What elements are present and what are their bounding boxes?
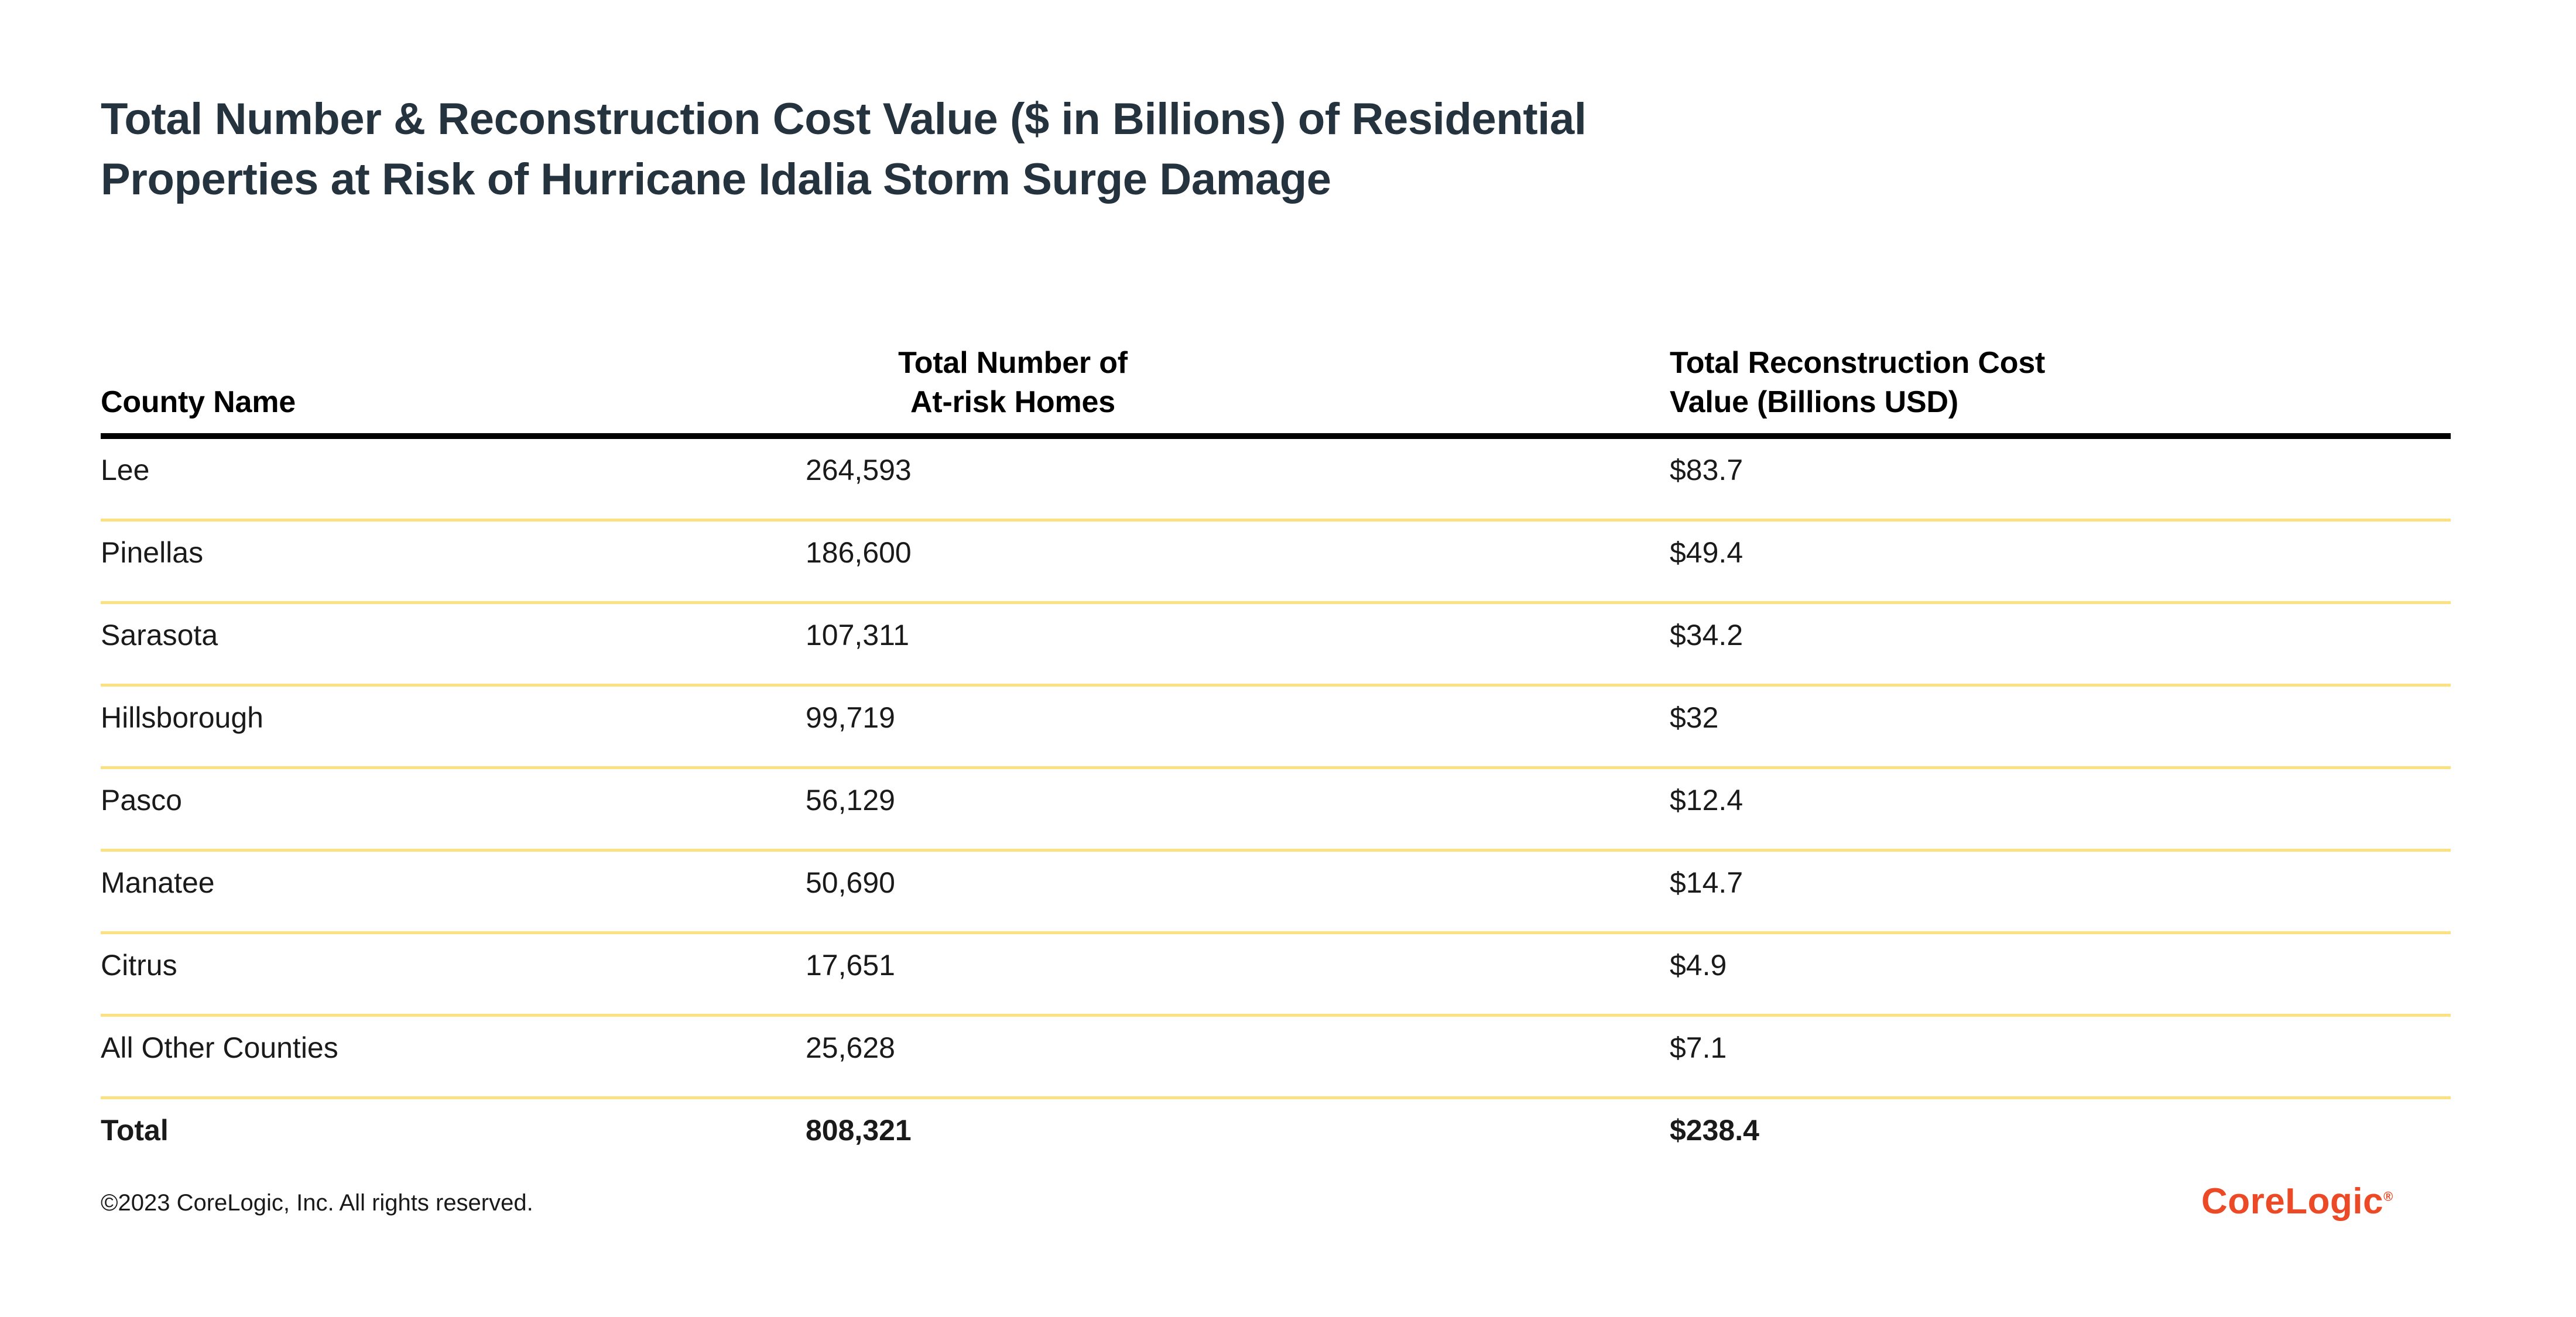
table-row: Manatee 50,690 $14.7 xyxy=(101,852,2451,934)
table-total-row: Total 808,321 $238.4 xyxy=(101,1099,2451,1179)
cell-county-name: All Other Counties xyxy=(101,1033,338,1062)
cell-at-risk-homes: 50,690 xyxy=(806,868,895,897)
cell-county-name: Hillsborough xyxy=(101,703,263,732)
cell-at-risk-homes: 17,651 xyxy=(806,951,895,980)
page-title-line-1: Total Number & Reconstruction Cost Value… xyxy=(101,89,2325,149)
table-header-rule xyxy=(101,433,2451,439)
cell-county-name: Pinellas xyxy=(101,538,203,567)
cell-reconstruction-cost: $14.7 xyxy=(1670,868,1743,897)
cell-county-name: Lee xyxy=(101,455,149,485)
cell-reconstruction-cost: $4.9 xyxy=(1670,951,1727,980)
cell-county-name: Citrus xyxy=(101,951,177,980)
cell-total-reconstruction-cost: $238.4 xyxy=(1670,1116,1759,1145)
cell-at-risk-homes: 25,628 xyxy=(806,1033,895,1062)
column-header-at-risk-homes-line-1: Total Number of xyxy=(808,344,1218,383)
column-header-reconstruction-cost-line-1: Total Reconstruction Cost xyxy=(1670,344,2045,383)
cell-reconstruction-cost: $12.4 xyxy=(1670,786,1743,815)
page-title: Total Number & Reconstruction Cost Value… xyxy=(101,89,2325,210)
cell-total-at-risk-homes: 808,321 xyxy=(806,1116,912,1145)
table-row: All Other Counties 25,628 $7.1 xyxy=(101,1017,2451,1099)
cell-total-label: Total xyxy=(101,1116,169,1145)
at-risk-properties-table: County Name Total Number of At-risk Home… xyxy=(101,293,2451,1179)
cell-at-risk-homes: 186,600 xyxy=(806,538,912,567)
cell-at-risk-homes: 264,593 xyxy=(806,455,912,485)
cell-reconstruction-cost: $32 xyxy=(1670,703,1718,732)
cell-reconstruction-cost: $83.7 xyxy=(1670,455,1743,485)
corelogic-logo-wordmark: CoreLogic xyxy=(2201,1181,2383,1222)
corelogic-logo: CoreLogic® xyxy=(2201,1184,2393,1220)
registered-trademark-icon: ® xyxy=(2383,1189,2393,1203)
cell-reconstruction-cost: $34.2 xyxy=(1670,620,1743,650)
page-title-line-2: Properties at Risk of Hurricane Idalia S… xyxy=(101,149,2325,210)
infographic-page: Total Number & Reconstruction Cost Value… xyxy=(0,0,2576,1317)
cell-county-name: Pasco xyxy=(101,786,182,815)
column-header-at-risk-homes: Total Number of At-risk Homes xyxy=(808,344,1218,423)
table-row: Lee 264,593 $83.7 xyxy=(101,439,2451,522)
cell-county-name: Sarasota xyxy=(101,620,218,650)
column-header-county-name: County Name xyxy=(101,383,296,423)
table-row: Citrus 17,651 $4.9 xyxy=(101,934,2451,1017)
table-row: Sarasota 107,311 $34.2 xyxy=(101,604,2451,687)
cell-reconstruction-cost: $7.1 xyxy=(1670,1033,1727,1062)
table-row: Pasco 56,129 $12.4 xyxy=(101,769,2451,852)
cell-at-risk-homes: 56,129 xyxy=(806,786,895,815)
cell-county-name: Manatee xyxy=(101,868,215,897)
cell-reconstruction-cost: $49.4 xyxy=(1670,538,1743,567)
column-header-county-name-label: County Name xyxy=(101,383,296,423)
table-row: Pinellas 186,600 $49.4 xyxy=(101,522,2451,604)
table-header-row: County Name Total Number of At-risk Home… xyxy=(101,293,2451,433)
column-header-at-risk-homes-line-2: At-risk Homes xyxy=(808,383,1218,423)
table-row: Hillsborough 99,719 $32 xyxy=(101,687,2451,769)
cell-at-risk-homes: 107,311 xyxy=(806,620,909,650)
column-header-reconstruction-cost-line-2: Value (Billions USD) xyxy=(1670,383,2045,423)
cell-at-risk-homes: 99,719 xyxy=(806,703,895,732)
copyright-text: ©2023 CoreLogic, Inc. All rights reserve… xyxy=(101,1191,533,1215)
column-header-reconstruction-cost: Total Reconstruction Cost Value (Billion… xyxy=(1670,344,2045,423)
